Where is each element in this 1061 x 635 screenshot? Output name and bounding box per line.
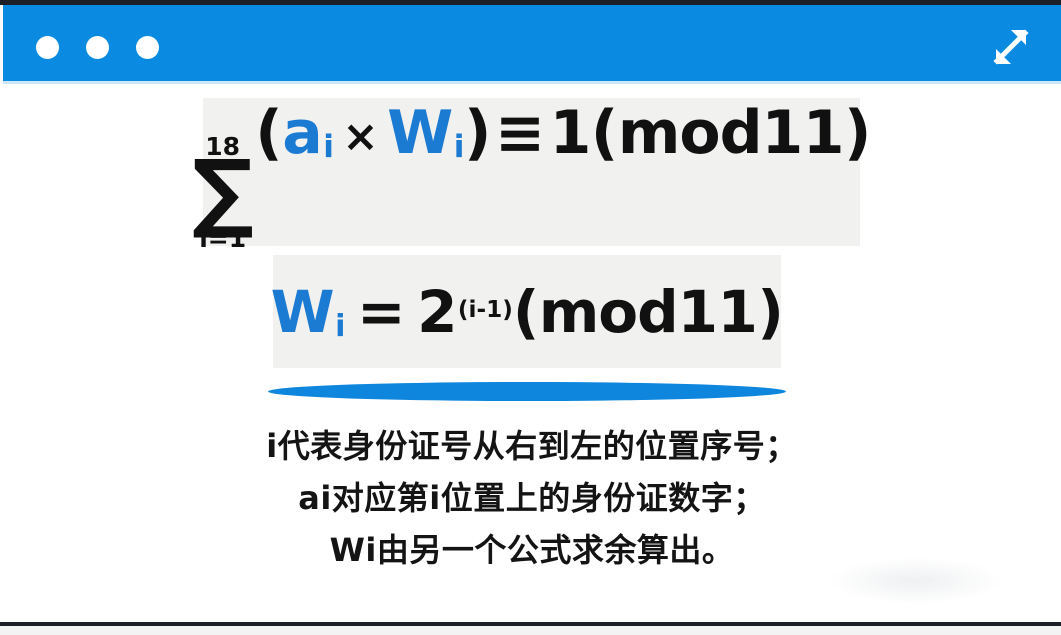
weight-formula-panel: Wi = 2(i-1) (mod11) — [273, 255, 781, 368]
window-dot-3[interactable] — [136, 36, 159, 59]
app-window: 18 ∑ i=1 ( ai × Wi ) ≡ 1 (mod11) Wi = 2(… — [0, 0, 1061, 635]
weight-formula: Wi = 2(i-1) (mod11) — [271, 283, 784, 341]
content-area: 18 ∑ i=1 ( ai × Wi ) ≡ 1 (mod11) Wi = 2(… — [3, 84, 1061, 622]
variable-a: a — [282, 103, 322, 163]
power-base: 2 — [417, 283, 457, 341]
caption-line-1: i代表身份证号从右到左的位置序号； — [3, 420, 1061, 472]
weight-mod-value: 11 — [678, 283, 758, 341]
multiplication-sign: × — [342, 116, 378, 159]
weight-mod-open-paren: ( — [513, 283, 539, 341]
congruence-result: 1 — [550, 103, 591, 163]
variable-w: W — [387, 103, 453, 163]
congruence-formula-panel: 18 ∑ i=1 ( ai × Wi ) ≡ 1 (mod11) — [203, 98, 860, 246]
variable-a-subscript: i — [323, 132, 333, 163]
mod-open-paren: ( — [591, 103, 618, 163]
blue-lens-divider — [268, 382, 786, 401]
mod-label: mod — [618, 103, 762, 163]
variable-w-subscript: i — [454, 132, 464, 163]
close-paren: ) — [464, 103, 491, 163]
window-control-dots — [36, 36, 159, 59]
window-dot-1[interactable] — [36, 36, 59, 59]
congruence-formula: 18 ∑ i=1 ( ai × Wi ) ≡ 1 (mod11) — [192, 103, 871, 250]
weight-variable-w-subscript: i — [335, 312, 345, 342]
sigma-icon: ∑ — [192, 157, 253, 228]
congruence-sign: ≡ — [495, 103, 545, 163]
caption-line-3: Wi由另一个公式求余算出。 — [3, 524, 1061, 576]
expand-diagonal-arrows-icon[interactable] — [988, 24, 1034, 70]
mod-close-paren: ) — [844, 103, 871, 163]
weight-variable-w: W — [271, 283, 334, 341]
caption-block: i代表身份证号从右到左的位置序号； ai对应第i位置上的身份证数字； Wi由另一… — [3, 420, 1061, 576]
window-dot-2[interactable] — [86, 36, 109, 59]
weight-mod-label: mod — [539, 283, 678, 341]
summation-operator: 18 ∑ i=1 — [192, 134, 253, 252]
open-paren: ( — [255, 103, 282, 163]
power-exponent: (i-1) — [458, 298, 513, 321]
window-frame-bottom-pad — [0, 626, 1061, 635]
caption-line-2: ai对应第i位置上的身份证数字； — [3, 472, 1061, 524]
titlebar[interactable] — [3, 5, 1061, 81]
sum-lower-limit: i=1 — [199, 226, 246, 251]
mod-value: 11 — [762, 103, 845, 163]
weight-mod-close-paren: ) — [757, 283, 783, 341]
equals-sign: = — [357, 283, 405, 341]
